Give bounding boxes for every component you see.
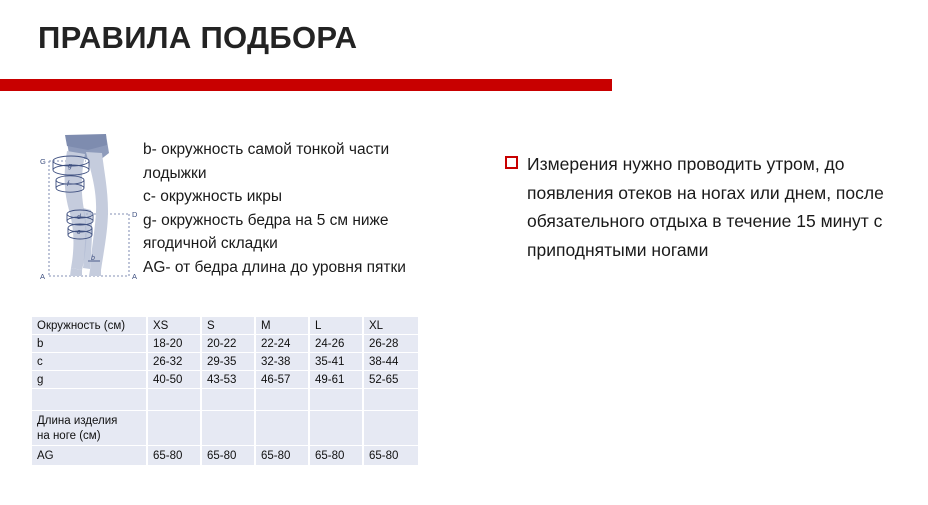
cell-ag-m: 65-80: [256, 446, 310, 466]
cell-c-l: 35-41: [310, 353, 364, 371]
section-header-m: [256, 411, 310, 446]
cell-c-xs: 26-32: [148, 353, 202, 371]
size-chart-table: Окружность (см) XS S M L XL b 18-20 20-2…: [32, 317, 418, 466]
point-label-a-right: A: [132, 272, 137, 281]
row-label-ag: AG: [32, 446, 148, 466]
measurement-note: Измерения нужно проводить утром, до появ…: [505, 150, 905, 264]
table-section-header-row: Длина изделия на ноге (см): [32, 411, 418, 446]
cell-c-s: 29-35: [202, 353, 256, 371]
table-header-s: S: [202, 317, 256, 335]
cell-g-m: 46-57: [256, 371, 310, 389]
band-label-c: c: [77, 229, 81, 236]
page-title: ПРАВИЛА ПОДБОРА: [38, 18, 357, 58]
cell-ag-s: 65-80: [202, 446, 256, 466]
spacer-cell-label: [32, 389, 148, 411]
table-spacer-row: [32, 389, 418, 411]
table-header-l: L: [310, 317, 364, 335]
legend-line-g: g- окружность бедра на 5 см ниже ягодичн…: [143, 209, 443, 256]
title-accent-rule: [0, 79, 612, 91]
legend-line-b: b- окружность самой тонкой части лодыжки: [143, 138, 443, 185]
table-row: b 18-20 20-22 22-24 24-26 26-28: [32, 335, 418, 353]
point-label-a-left: A: [40, 272, 45, 281]
table-header-measure: Окружность (см): [32, 317, 148, 335]
cell-b-l: 24-26: [310, 335, 364, 353]
band-label-g: g: [68, 163, 72, 170]
spacer-cell-l: [310, 389, 364, 411]
band-label-b: b: [91, 255, 95, 262]
row-label-b: b: [32, 335, 148, 353]
row-label-c: c: [32, 353, 148, 371]
cell-ag-xl: 65-80: [364, 446, 418, 466]
section-header-s: [202, 411, 256, 446]
section-header-label: Длина изделия на ноге (см): [32, 411, 148, 446]
legend-line-c: c- окружность икры: [143, 185, 443, 209]
slide-root: ПРАВИЛА ПОДБОРА: [0, 0, 928, 505]
row-label-g: g: [32, 371, 148, 389]
square-bullet-icon: [505, 156, 518, 169]
cell-ag-l: 65-80: [310, 446, 364, 466]
cell-b-m: 22-24: [256, 335, 310, 353]
table-row: g 40-50 43-53 46-57 49-61 52-65: [32, 371, 418, 389]
table-header-row: Окружность (см) XS S M L XL: [32, 317, 418, 335]
point-label-g: G: [40, 157, 46, 166]
table-header-xs: XS: [148, 317, 202, 335]
measurement-note-text: Измерения нужно проводить утром, до появ…: [527, 150, 902, 264]
section-header-l: [310, 411, 364, 446]
cell-c-m: 32-38: [256, 353, 310, 371]
cell-b-xl: 26-28: [364, 335, 418, 353]
spacer-cell-xl: [364, 389, 418, 411]
cell-b-s: 20-22: [202, 335, 256, 353]
table-header-m: M: [256, 317, 310, 335]
leg-measurement-diagram: g f d c b G D A A: [38, 118, 143, 290]
section-header-line1: Длина изделия: [37, 414, 142, 429]
spacer-cell-xs: [148, 389, 202, 411]
spacer-cell-s: [202, 389, 256, 411]
section-header-xs: [148, 411, 202, 446]
table-header-xl: XL: [364, 317, 418, 335]
cell-ag-xs: 65-80: [148, 446, 202, 466]
cell-g-s: 43-53: [202, 371, 256, 389]
cell-c-xl: 38-44: [364, 353, 418, 371]
legend-line-ag: AG- от бедра длина до уровня пятки: [143, 256, 443, 280]
table-row: AG 65-80 65-80 65-80 65-80 65-80: [32, 446, 418, 466]
cell-g-xs: 40-50: [148, 371, 202, 389]
section-header-xl: [364, 411, 418, 446]
section-header-line2: на ноге (см): [37, 429, 142, 444]
table-row: c 26-32 29-35 32-38 35-41 38-44: [32, 353, 418, 371]
point-label-d: D: [132, 210, 138, 219]
cell-g-xl: 52-65: [364, 371, 418, 389]
cell-b-xs: 18-20: [148, 335, 202, 353]
measurement-legend: b- окружность самой тонкой части лодыжки…: [143, 138, 443, 279]
spacer-cell-m: [256, 389, 310, 411]
cell-g-l: 49-61: [310, 371, 364, 389]
